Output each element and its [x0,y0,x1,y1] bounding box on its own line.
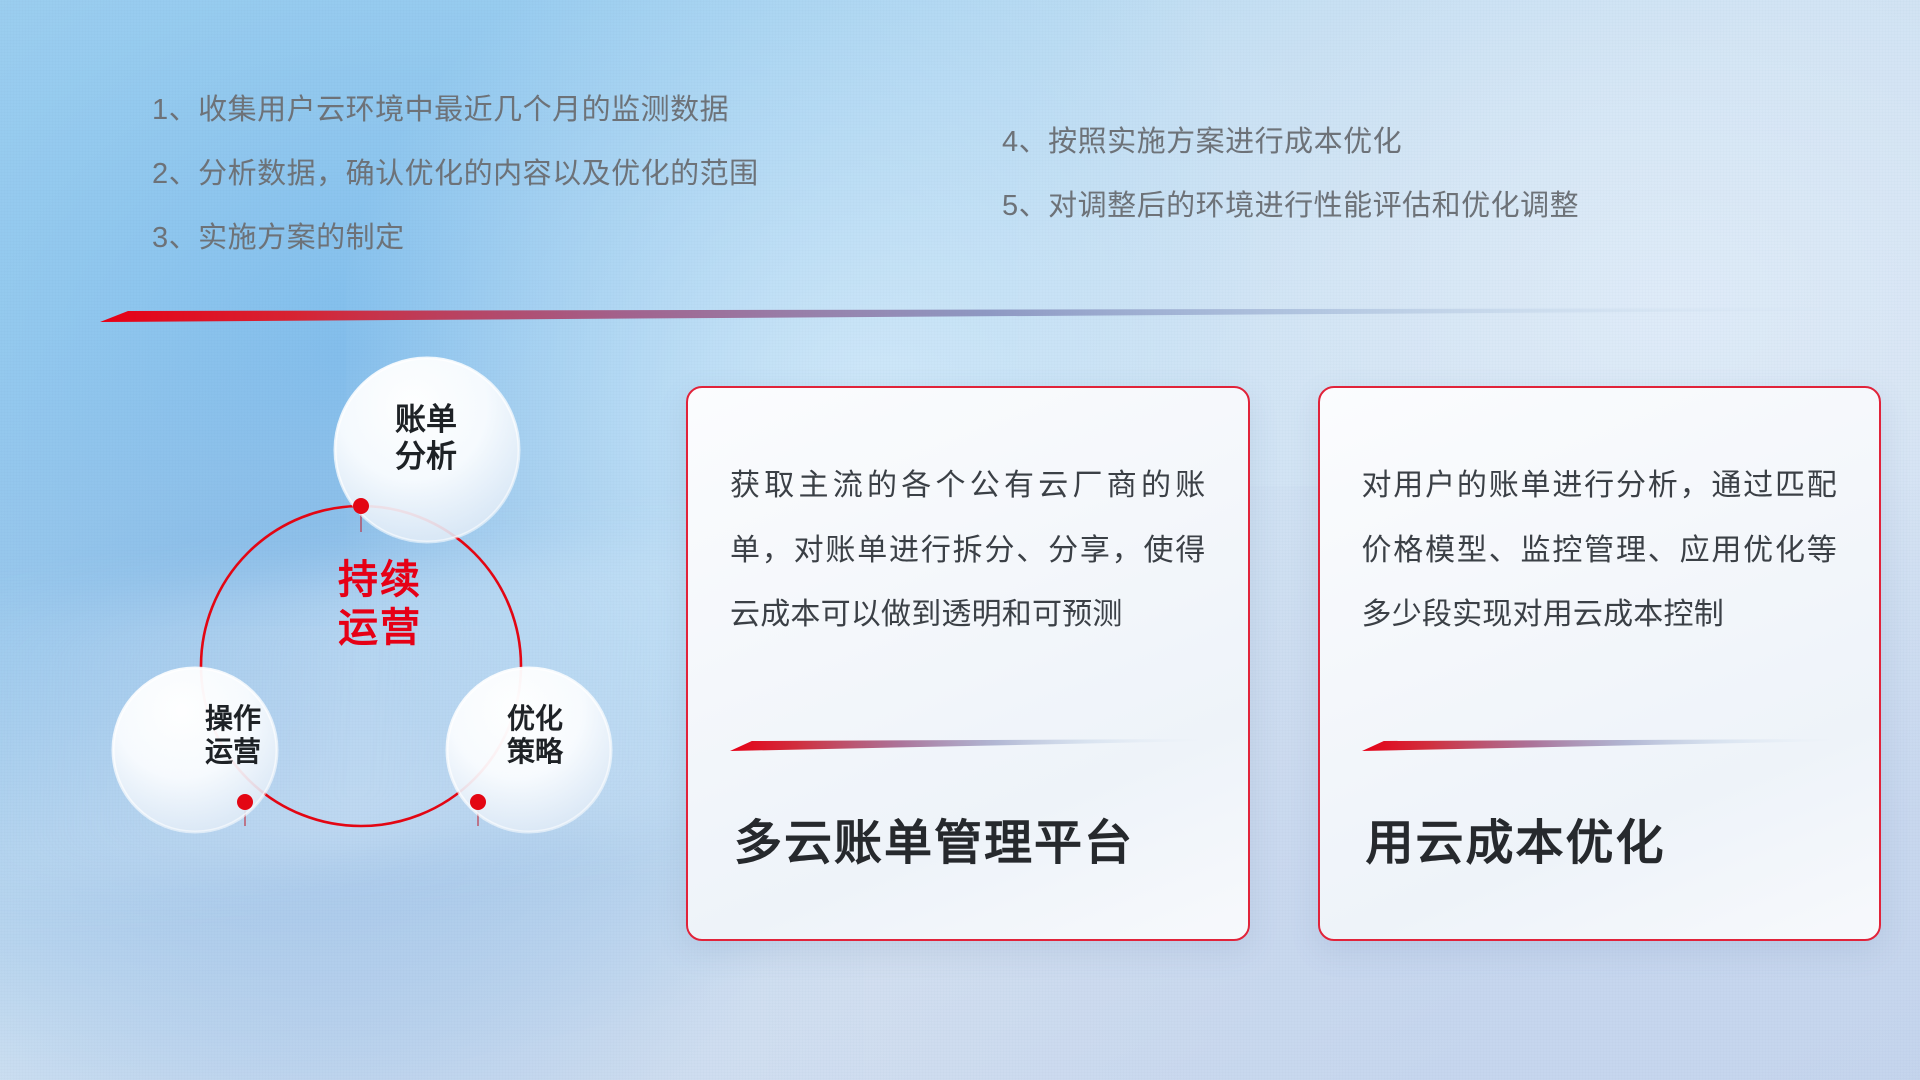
step-item-1: 1、收集用户云环境中最近几个月的监测数据 [152,96,759,125]
step-item-2: 2、分析数据，确认优化的内容以及优化的范围 [152,160,759,189]
step-item-3: 3、实施方案的制定 [152,224,759,253]
card-description: 获取主流的各个公有云厂商的账单，对账单进行拆分、分享，使得云成本可以做到透明和可… [730,454,1206,648]
card-title: 多云账单管理平台 [734,803,1206,873]
venn-dot-left [237,794,253,810]
venn-dot-right [470,794,486,810]
card-description: 对用户的账单进行分析，通过匹配价格模型、监控管理、应用优化等多少段实现对用云成本… [1362,454,1838,648]
venn-dot-top [353,498,369,514]
step-column-right: 4、按照实施方案进行成本优化 5、对调整后的环境进行性能评估和优化调整 [1002,128,1579,221]
venn-bubble-top [335,358,519,542]
card-title: 用云成本优化 [1366,803,1838,873]
step-column-left: 1、收集用户云环境中最近几个月的监测数据 2、分析数据，确认优化的内容以及优化的… [152,96,759,253]
process-step-list: 1、收集用户云环境中最近几个月的监测数据 2、分析数据，确认优化的内容以及优化的… [0,96,1920,286]
feature-card-cost-optimization[interactable]: 对用户的账单进行分析，通过匹配价格模型、监控管理、应用优化等多少段实现对用云成本… [1318,386,1882,941]
feature-card-billing-platform[interactable]: 获取主流的各个公有云厂商的账单，对账单进行拆分、分享，使得云成本可以做到透明和可… [686,386,1250,941]
step-item-4: 4、按照实施方案进行成本优化 [1002,128,1579,157]
feature-card-group: 获取主流的各个公有云厂商的账单，对账单进行拆分、分享，使得云成本可以做到透明和可… [686,386,1881,946]
continuous-operation-venn-diagram: 账单 分析 操作 运营 优化 策略 持续 运营 [95,350,635,950]
venn-bubble-right [447,668,611,832]
venn-bubble-left [113,668,277,832]
step-item-5: 5、对调整后的环境进行性能评估和优化调整 [1002,192,1579,221]
card-divider [1362,739,1838,753]
header-divider [100,308,1875,324]
card-divider [730,739,1206,753]
